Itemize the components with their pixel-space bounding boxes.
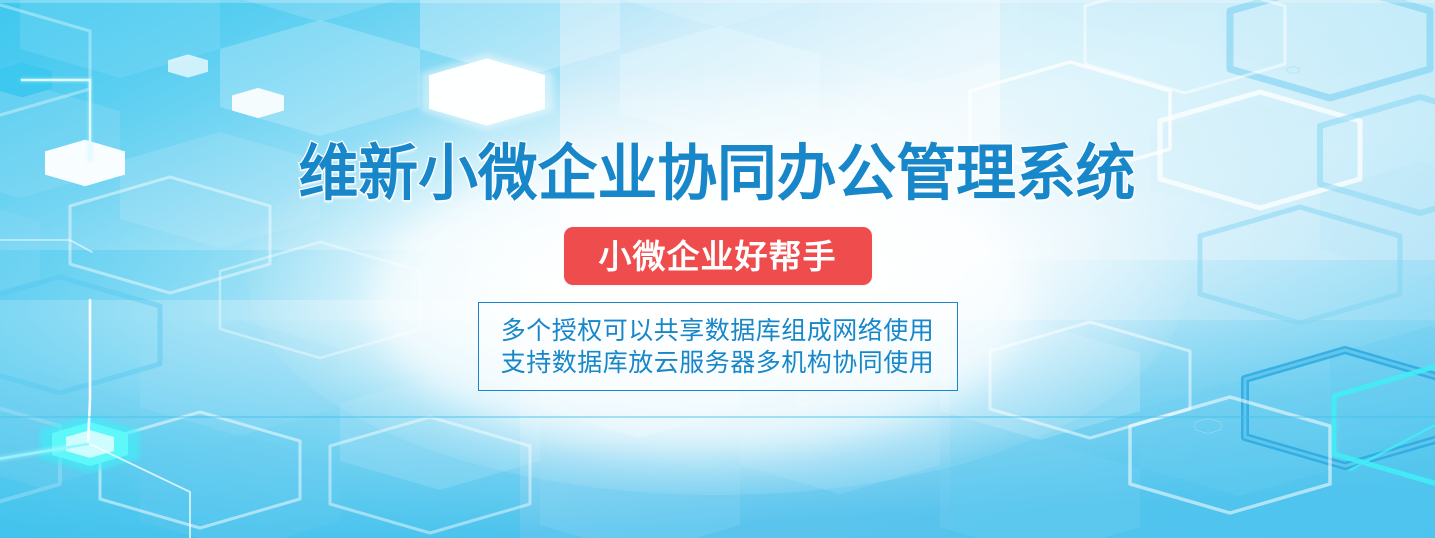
tagline-badge: 小微企业好帮手 [564,227,872,285]
page-title-text: 维新小微企业协同办公管理系统 [299,143,1136,204]
tagline-badge-label: 小微企业好帮手 [599,240,837,273]
page-title: 维新小微企业协同办公管理系统 [290,143,1144,204]
promo-banner: 维新小微企业协同办公管理系统 小微企业好帮手 多个授权可以共享数据库组成网络使用… [0,0,1435,538]
feature-line-2: 支持数据库放云服务器多机构协同使用 [501,347,935,379]
feature-line-1: 多个授权可以共享数据库组成网络使用 [501,315,935,347]
features-box: 多个授权可以共享数据库组成网络使用 支持数据库放云服务器多机构协同使用 [478,302,958,391]
